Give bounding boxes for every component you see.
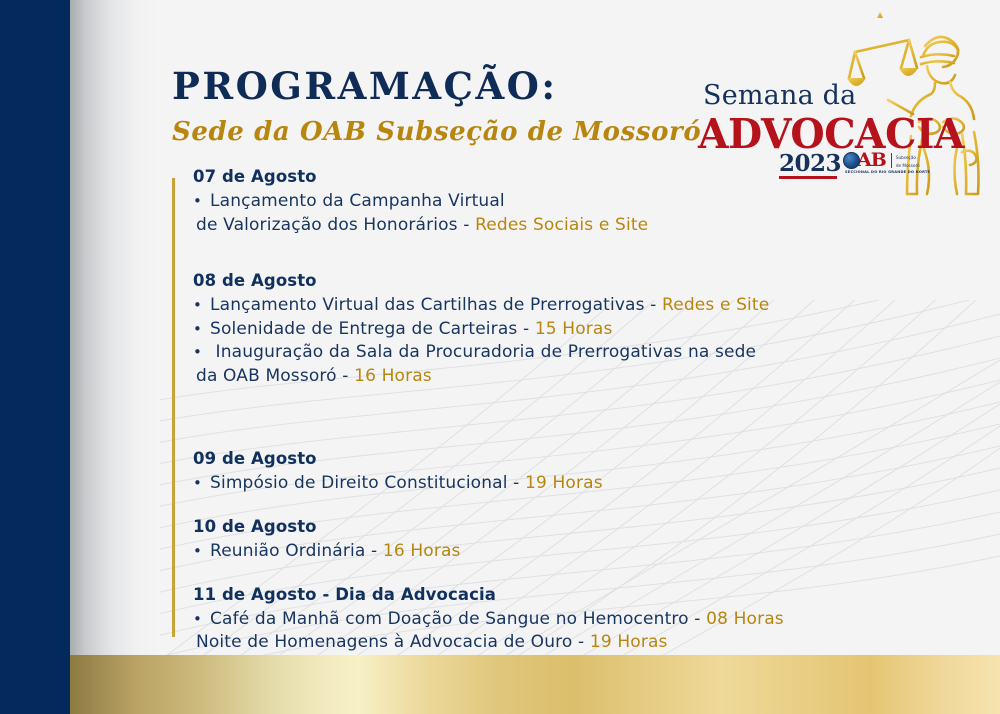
schedule-date-header: 11 de Agosto - Dia da Advocacia — [193, 586, 953, 604]
schedule-event-separator: - — [689, 609, 706, 629]
schedule-day-group: 09 de Agosto•Simpósio de Direito Constit… — [193, 450, 953, 496]
schedule-event-item: da OAB Mossoró - 16 Horas — [193, 365, 953, 389]
logo-year-block: 2023 — [779, 152, 841, 179]
schedule-event-time: 16 Horas — [383, 541, 461, 561]
schedule-date-label: 07 de Agosto — [193, 167, 317, 186]
schedule-event-text: Simpósio de Direito Constitucional — [210, 473, 508, 493]
schedule-event-item: •Lançamento Virtual das Cartilhas de Pre… — [193, 294, 953, 318]
navy-side-bar — [0, 0, 70, 714]
schedule-date-header: 09 de Agosto — [193, 450, 953, 468]
schedule-event-text: Solenidade de Entrega de Carteiras — [210, 319, 517, 339]
schedule-spacer — [193, 564, 953, 586]
schedule-event-item: Noite de Homenagens à Advocacia de Ouro … — [193, 631, 953, 655]
oab-subsection-text: Subseção de Mossoró — [896, 152, 920, 169]
schedule-day-group: 08 de Agosto•Lançamento Virtual das Cart… — [193, 272, 953, 388]
schedule-event-item: •Café da Manhã com Doação de Sangue no H… — [193, 608, 953, 632]
schedule-day-group: 10 de Agosto•Reunião Ordinária - 16 Hora… — [193, 518, 953, 564]
schedule-event-separator: - — [458, 215, 475, 235]
logo-line-semana-da: Semana da — [703, 80, 856, 111]
schedule-spacer — [193, 237, 953, 272]
schedule-spacer — [193, 388, 953, 450]
schedule-event-text: de Valorização dos Honorários — [196, 215, 458, 235]
schedule-date-header: 08 de Agosto — [193, 272, 953, 290]
bullet-icon: • — [193, 294, 210, 318]
schedule-event-text: Café da Manhã com Doação de Sangue no He… — [210, 609, 689, 629]
schedule-event-separator: - — [337, 366, 354, 386]
schedule-event-separator: - — [508, 473, 525, 493]
schedule-event-item: • Inauguração da Sala da Procuradoria de… — [193, 341, 953, 365]
schedule-event-time: 16 Horas — [354, 366, 432, 386]
schedule-event-item: de Valorização dos Honorários - Redes So… — [193, 214, 953, 238]
schedule-event-time: 08 Horas — [706, 609, 784, 629]
oab-letters: AB — [857, 152, 886, 169]
bullet-icon: • — [193, 608, 210, 632]
oab-caption: SECCIONAL DO RIO GRANDE DO NORTE — [845, 170, 930, 174]
oab-wordmark: AB SECCIONAL DO RIO GRANDE DO NORTE — [843, 152, 886, 169]
schedule-event-text: Lançamento Virtual das Cartilhas de Prer… — [210, 295, 645, 315]
logo-year: 2023 — [779, 152, 841, 175]
schedule-event-separator: - — [365, 541, 382, 561]
schedule-date-label: 08 de Agosto — [193, 271, 317, 290]
schedule-event-text: Inauguração da Sala da Procuradoria de P… — [210, 342, 756, 362]
schedule-event-item: •Simpósio de Direito Constitucional - 19… — [193, 472, 953, 496]
schedule-event-time: 19 Horas — [590, 632, 668, 652]
schedule-event-separator: - — [572, 632, 589, 652]
schedule-event-text: Reunião Ordinária — [210, 541, 365, 561]
schedule-event-separator: - — [645, 295, 662, 315]
schedule-date-label: 09 de Agosto — [193, 449, 317, 468]
oab-subsection-line-2: de Mossoró — [896, 163, 920, 168]
bullet-icon: • — [193, 318, 210, 342]
schedule-event-text: da OAB Mossoró — [196, 366, 337, 386]
schedule-event-time: 15 Horas — [535, 319, 613, 339]
schedule-event-item: •Reunião Ordinária - 16 Horas — [193, 540, 953, 564]
globe-icon — [843, 152, 860, 169]
schedule-event-time: Redes e Site — [662, 295, 769, 315]
schedule-day-group: 11 de Agosto - Dia da Advocacia•Café da … — [193, 586, 953, 655]
page-edge-shadow — [70, 0, 160, 714]
schedule-event-text: Noite de Homenagens à Advocacia de Ouro — [196, 632, 572, 652]
poster-canvas: PROGRAMAÇÃO: Sede da OAB Subseção de Mos… — [0, 0, 1000, 714]
schedule-event-time: 19 Horas — [525, 473, 603, 493]
schedule-date-suffix: - Dia da Advocacia — [317, 585, 496, 604]
bullet-icon: • — [193, 472, 210, 496]
oab-subsection-line-1: Subseção — [896, 155, 920, 160]
page-subtitle: Sede da OAB Subseção de Mossoró — [172, 119, 701, 145]
schedule-spacer — [193, 496, 953, 518]
schedule-event-text: Lançamento da Campanha Virtual — [210, 191, 505, 211]
schedule-list: 07 de Agosto•Lançamento da Campanha Virt… — [193, 168, 953, 655]
page-title: PROGRAMAÇÃO: — [172, 68, 701, 105]
schedule-date-label: 11 de Agosto — [193, 585, 317, 604]
semana-da-advocacia-logo: Semana da ADVOCACIA 2023 AB SECCIONAL DO… — [697, 18, 997, 198]
bullet-icon: • — [193, 341, 210, 365]
header-block: PROGRAMAÇÃO: Sede da OAB Subseção de Mos… — [172, 68, 701, 145]
schedule-event-separator: - — [517, 319, 534, 339]
schedule-date-header: 10 de Agosto — [193, 518, 953, 536]
bullet-icon: • — [193, 190, 210, 214]
bullet-icon: • — [193, 540, 210, 564]
oab-divider — [891, 153, 892, 168]
schedule-event-time: Redes Sociais e Site — [475, 215, 648, 235]
bottom-gold-band — [70, 655, 1000, 714]
oab-logo: AB SECCIONAL DO RIO GRANDE DO NORTE Subs… — [843, 152, 920, 169]
schedule-event-item: •Solenidade de Entrega de Carteiras - 15… — [193, 318, 953, 342]
schedule-date-label: 10 de Agosto — [193, 517, 317, 536]
gold-vertical-rule — [172, 178, 175, 637]
